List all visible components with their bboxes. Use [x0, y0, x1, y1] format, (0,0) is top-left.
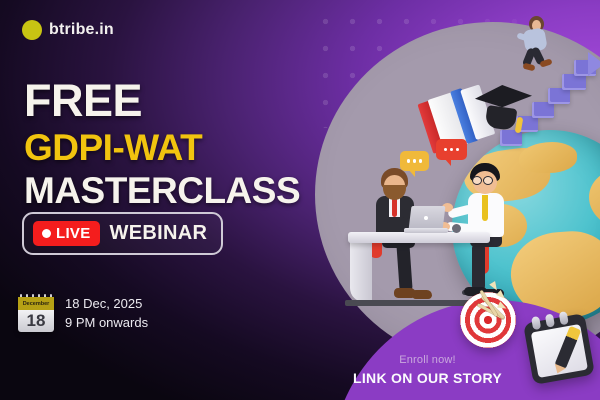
- desk-leg: [350, 240, 372, 302]
- laptop-base: [404, 228, 448, 233]
- schedule-block: December 18 18 Dec, 2025 9 PM onwards: [18, 294, 148, 332]
- notepad-icon: [523, 313, 595, 385]
- cta-enroll-text: Enroll now!: [330, 354, 525, 366]
- calendar-icon: December 18: [18, 294, 54, 332]
- cup-icon: [452, 224, 461, 233]
- calendar-month-label: December: [18, 297, 54, 310]
- climbing-person-icon: [516, 16, 558, 78]
- live-webinar-badge[interactable]: LIVE WEBINAR: [22, 212, 223, 255]
- live-label: LIVE: [56, 225, 91, 242]
- headline-block: FREE GDPI-WAT MASTERCLASS: [24, 78, 300, 209]
- live-pill: LIVE: [33, 221, 100, 246]
- headline-line-masterclass: MASTERCLASS: [24, 172, 300, 209]
- headline-line-free: FREE: [24, 78, 300, 123]
- cta-link-in-story: LINK ON OUR STORY: [330, 370, 525, 386]
- event-time: 9 PM onwards: [65, 315, 148, 330]
- brand-logo[interactable]: btribe.in: [22, 20, 114, 40]
- promo-banner: btribe.in FREE GDPI-WAT MASTERCLASS LIVE…: [0, 0, 600, 400]
- event-date: 18 Dec, 2025: [65, 296, 148, 311]
- laptop-logo-icon: [424, 216, 428, 220]
- live-dot-icon: [42, 229, 51, 238]
- cta-block[interactable]: Enroll now! LINK ON OUR STORY: [330, 354, 525, 386]
- headline-line-gdpi-wat: GDPI-WAT: [24, 129, 300, 166]
- graduation-cap-icon: [470, 85, 534, 137]
- desk-surface: [348, 232, 490, 243]
- webinar-label: WEBINAR: [110, 222, 208, 245]
- darts-icon: [482, 280, 528, 324]
- speech-bubble-red-icon: [436, 139, 467, 160]
- calendar-day-label: 18: [18, 310, 54, 332]
- logo-dot-icon: [22, 20, 42, 40]
- logo-text: btribe.in: [49, 21, 114, 39]
